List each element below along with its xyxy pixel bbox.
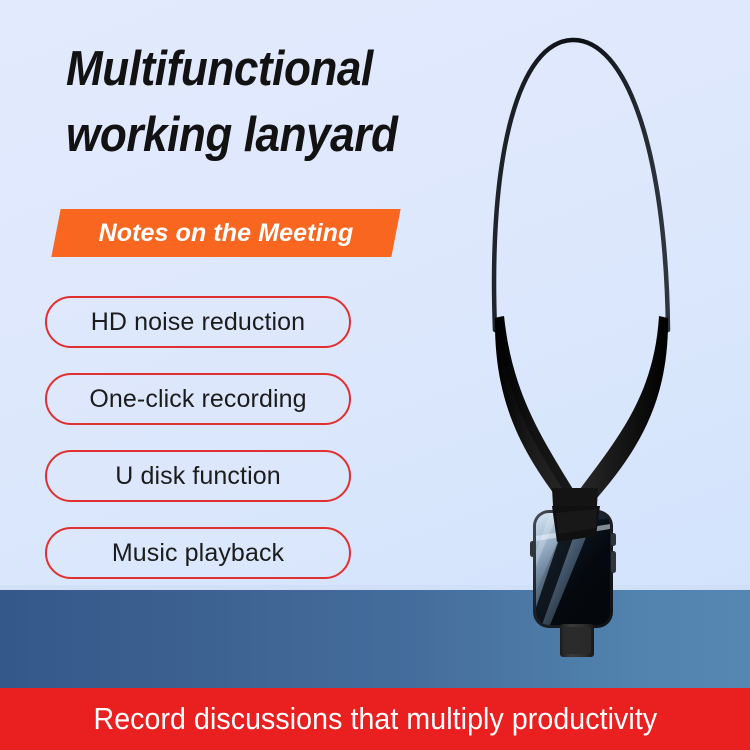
feature-pill-u-disk-function[interactable]: U disk function [45,450,351,502]
feature-label: HD noise reduction [91,308,305,337]
feature-pill-hd-noise-reduction[interactable]: HD noise reduction [45,296,351,348]
feature-pill-music-playback[interactable]: Music playback [45,527,351,579]
footer-banner: Record discussions that multiply product… [0,688,750,750]
headline-line-1: Multifunctional [66,36,444,102]
footer-text: Record discussions that multiply product… [93,701,657,737]
headline-line-2: working lanyard [66,102,444,168]
section-tag: Notes on the Meeting [56,209,396,257]
feature-label: One-click recording [89,385,306,414]
feature-label: Music playback [112,539,284,568]
feature-label: U disk function [115,462,280,491]
product-poster: Multifunctional working lanyard Notes on… [0,0,750,750]
page-title: Multifunctional working lanyard [66,36,444,168]
tag-label: Notes on the Meeting [56,209,396,257]
feature-pill-one-click-recording[interactable]: One-click recording [45,373,351,425]
blue-band [0,590,750,688]
feature-list: HD noise reduction One-click recording U… [45,296,351,579]
